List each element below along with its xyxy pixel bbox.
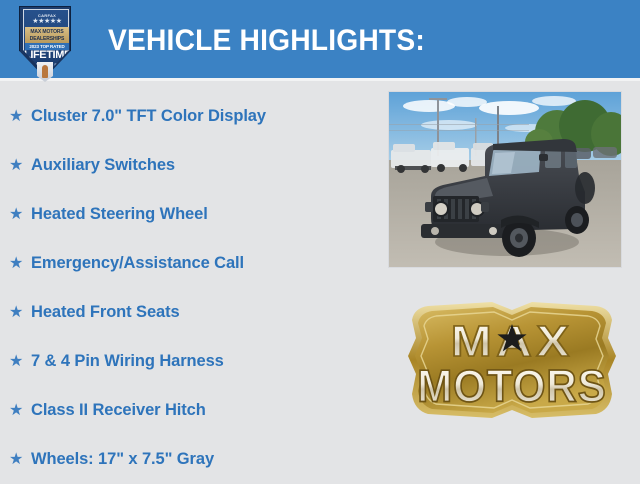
- list-item-label: Wheels: 17" x 7.5" Gray: [31, 450, 214, 469]
- list-item: ★ Auxiliary Switches: [0, 141, 380, 190]
- list-item-label: Auxiliary Switches: [31, 156, 175, 175]
- badge-stars: ★★★★★: [24, 18, 70, 26]
- star-bullet-icon: ★: [9, 109, 31, 125]
- vehicle-highlights-slide: CARFAX ★★★★★ MAX MOTORS DEALERSHIPS 2023…: [0, 0, 640, 480]
- list-item: ★ Cluster 7.0" TFT Color Display: [0, 92, 380, 141]
- badge-dealer-line1: MAX MOTORS: [25, 29, 69, 35]
- badge-lifetime-label: LIFETIME: [24, 50, 70, 61]
- list-item-label: Heated Front Seats: [31, 303, 180, 322]
- max-motors-logo: MAX MOTORS: [398, 298, 626, 428]
- star-bullet-icon: ★: [9, 256, 31, 272]
- star-bullet-icon: ★: [9, 305, 31, 321]
- list-item: ★ 7 & 4 Pin Wiring Harness: [0, 337, 380, 386]
- header-underline: [0, 78, 640, 81]
- vehicle-photo: [388, 91, 622, 268]
- list-item-label: Heated Steering Wheel: [31, 205, 208, 224]
- list-item: ★ Heated Steering Wheel: [0, 190, 380, 239]
- list-item: ★ Heated Front Seats: [0, 288, 380, 337]
- badge-dealer-band: MAX MOTORS DEALERSHIPS: [25, 27, 69, 43]
- star-bullet-icon: ★: [9, 452, 31, 468]
- badge-ribbon-tail: [37, 62, 53, 82]
- badge-dealer-line2: DEALERSHIPS: [25, 36, 69, 42]
- list-item-label: Emergency/Assistance Call: [31, 254, 244, 273]
- list-item-label: 7 & 4 Pin Wiring Harness: [31, 352, 224, 371]
- vehicle-photo-image: [389, 92, 622, 268]
- star-bullet-icon: ★: [9, 354, 31, 370]
- badge-figure-icon: [42, 65, 48, 78]
- star-bullet-icon: ★: [9, 158, 31, 174]
- list-item: ★ Emergency/Assistance Call: [0, 239, 380, 288]
- page-title: VEHICLE HIGHLIGHTS:: [108, 24, 425, 58]
- list-item: ★ Class II Receiver Hitch: [0, 386, 380, 435]
- logo-line2: MOTORS: [417, 361, 607, 412]
- max-motors-logo-image: MAX MOTORS: [398, 298, 626, 428]
- feature-list: ★ Cluster 7.0" TFT Color Display ★ Auxil…: [0, 92, 380, 484]
- star-bullet-icon: ★: [9, 207, 31, 223]
- list-item-label: Cluster 7.0" TFT Color Display: [31, 107, 266, 126]
- list-item-label: Class II Receiver Hitch: [31, 401, 206, 420]
- star-bullet-icon: ★: [9, 403, 31, 419]
- list-item: ★ Wheels: 17" x 7.5" Gray: [0, 435, 380, 484]
- carfax-lifetime-dealer-badge: CARFAX ★★★★★ MAX MOTORS DEALERSHIPS 2023…: [19, 6, 71, 80]
